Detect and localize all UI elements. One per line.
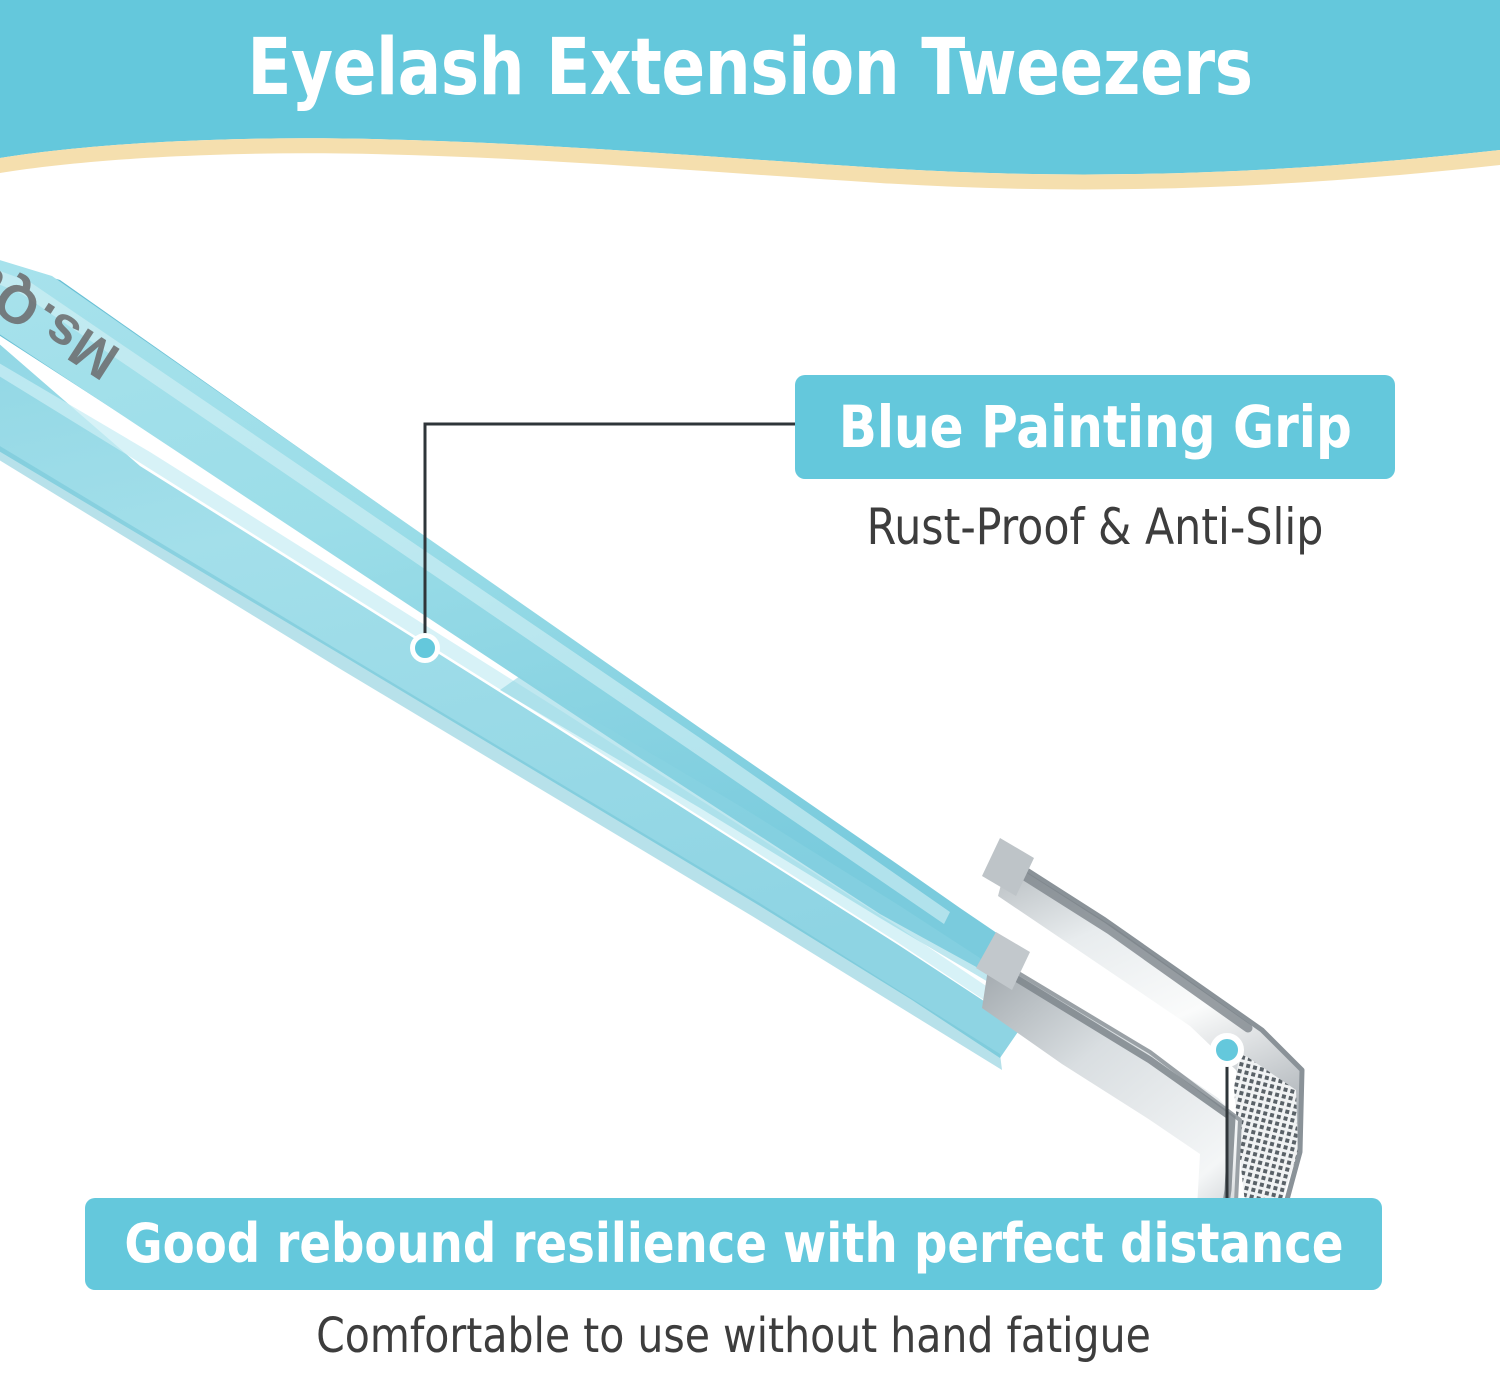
hotspot-dot-grip[interactable] bbox=[410, 633, 440, 663]
page-title: Eyelash Extension Tweezers bbox=[60, 26, 1440, 112]
tweezer-midsection bbox=[500, 676, 995, 986]
callout-box-blue-painting-grip: Blue Painting Grip bbox=[795, 375, 1395, 479]
callout-subtitle-blue-painting-grip: Rust-Proof & Anti-Slip bbox=[810, 502, 1380, 552]
callout-title-blue-painting-grip: Blue Painting Grip bbox=[838, 398, 1351, 456]
product-infographic: Eyelash Extension Tweezers bbox=[0, 0, 1500, 1379]
callout-title-rebound-resilience: Good rebound resilience with perfect dis… bbox=[124, 1217, 1343, 1271]
callout-box-rebound-resilience: Good rebound resilience with perfect dis… bbox=[85, 1198, 1382, 1290]
hotspot-dot-tip[interactable] bbox=[1210, 1033, 1244, 1067]
callout-subtitle-rebound-resilience: Comfortable to use without hand fatigue bbox=[117, 1312, 1349, 1360]
product-image-tweezers bbox=[0, 190, 1500, 1200]
tweezer-upper-highlight bbox=[0, 260, 950, 924]
